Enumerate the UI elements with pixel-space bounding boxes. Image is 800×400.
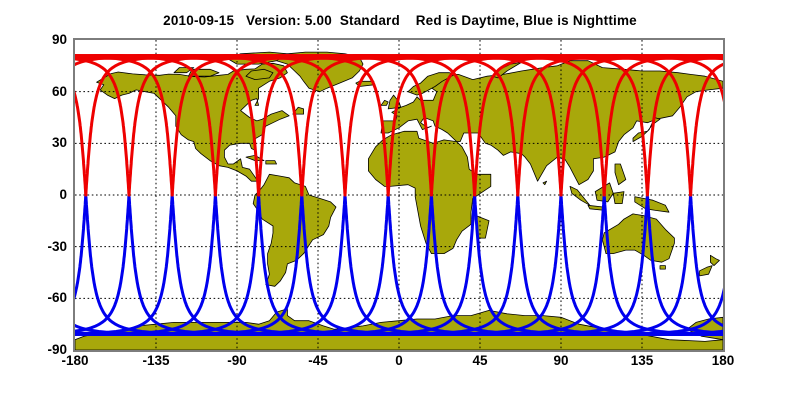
x-tick-label: 135 xyxy=(612,353,672,368)
ground-track-nighttime xyxy=(75,195,86,335)
south-nighttime-band xyxy=(75,332,723,336)
x-tick-label: 45 xyxy=(450,353,510,368)
x-tick-label: -180 xyxy=(45,353,105,368)
land-india-sl xyxy=(543,181,547,185)
land-australia xyxy=(602,214,674,262)
north-daytime-band xyxy=(75,55,723,60)
y-tick-label: 30 xyxy=(25,135,67,150)
land-new-zealand-s xyxy=(700,266,713,276)
ground-track-figure: 2010-09-15 Version: 5.00 Standard Red is… xyxy=(0,0,800,400)
y-tick-label: 60 xyxy=(25,84,67,99)
y-tick-label: 90 xyxy=(25,32,67,47)
x-tick-label: -45 xyxy=(288,353,348,368)
ground-track-daytime xyxy=(75,56,86,196)
land-ireland xyxy=(381,100,388,105)
land-sumatra xyxy=(570,186,590,205)
y-tick-label: -60 xyxy=(25,290,67,305)
x-tick-label: 0 xyxy=(369,353,429,368)
ground-track-plot xyxy=(75,40,723,350)
ground-track-nighttime xyxy=(604,195,723,335)
y-tick-label: -30 xyxy=(25,239,67,254)
x-tick-label: -90 xyxy=(207,353,267,368)
ground-track-nighttime xyxy=(75,195,215,335)
plot-area xyxy=(75,40,723,350)
plot-frame xyxy=(73,38,725,352)
land-philippines xyxy=(615,164,626,185)
land-hispaniola xyxy=(266,161,277,164)
x-tick-label: 180 xyxy=(693,353,753,368)
x-tick-label: -135 xyxy=(126,353,186,368)
x-tick-label: 90 xyxy=(531,353,591,368)
land-tasmania xyxy=(660,266,665,270)
y-tick-label: 0 xyxy=(25,187,67,202)
land-sulawesi xyxy=(613,192,624,204)
land-new-zealand-n xyxy=(710,255,719,265)
page-title: 2010-09-15 Version: 5.00 Standard Red is… xyxy=(0,13,800,28)
land-new-guinea xyxy=(635,197,669,213)
ground-track-nighttime xyxy=(691,195,723,335)
